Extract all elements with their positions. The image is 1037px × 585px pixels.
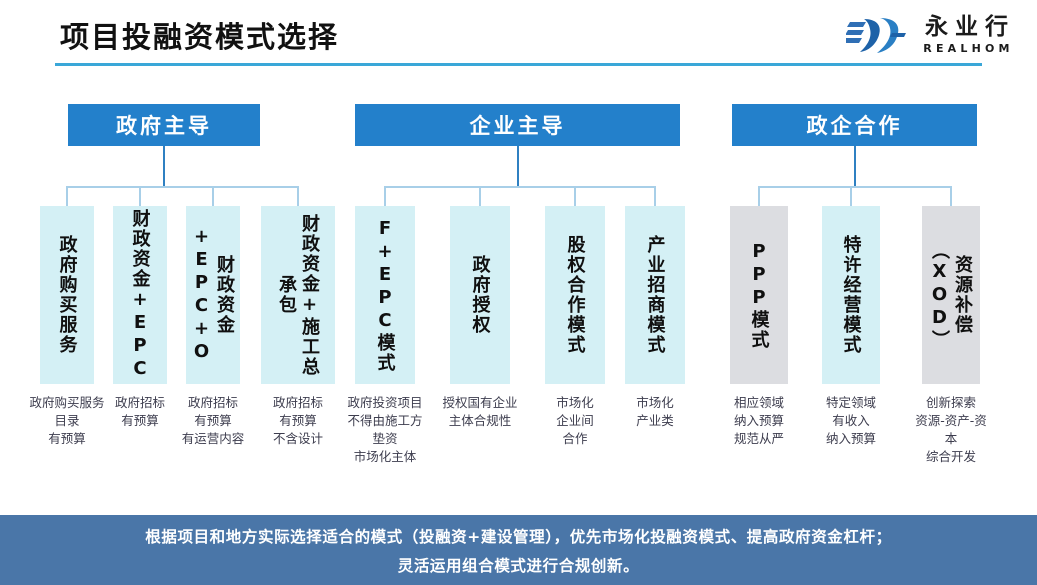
mode-card-label: PPP模式 — [747, 241, 770, 350]
caption-line: 资源-资产-资本 — [910, 412, 992, 448]
mode-card-label: 股权合作模式 — [563, 235, 586, 355]
connector-hbar — [759, 186, 951, 188]
mode-card-caption: 政府投资项目不得由施工方垫资市场化主体 — [344, 394, 426, 467]
caption-line: 特定领域 — [810, 394, 892, 412]
page-title: 项目投融资模式选择 — [60, 14, 339, 56]
mode-card-caption: 政府招标有预算有运营内容 — [172, 394, 254, 448]
mode-card-label: 政府购买服务 — [55, 235, 78, 355]
group-3: 政企合作PPP模式相应领域纳入预算规范从严特许经营模式特定领域有收入纳入预算资源… — [712, 76, 1032, 506]
caption-line: 政府招标 — [172, 394, 254, 412]
caption-line: 有运营内容 — [172, 430, 254, 448]
connector-drop — [297, 186, 299, 206]
title-underline-rule — [55, 63, 982, 66]
org-tree-diagram: 政府主导政府购买服务政府购买服务目录有预算财政资金+EPC政府招标有预算财政资金… — [0, 76, 1037, 506]
connector-drop — [139, 186, 141, 206]
caption-line: 企业间 — [534, 412, 616, 430]
caption-line: 相应领域 — [718, 394, 800, 412]
slide-header: 项目投融资模式选择 永业行 REALHOM — [0, 0, 1037, 76]
mode-card[interactable]: 财政资金+EPC+O — [186, 206, 240, 384]
mode-card-caption: 特定领域有收入纳入预算 — [810, 394, 892, 448]
caption-line: 授权国有企业 — [439, 394, 521, 412]
yh-monogram-icon — [846, 15, 908, 55]
connector-drop — [850, 186, 852, 206]
mode-card[interactable]: 政府购买服务 — [40, 206, 94, 384]
caption-line: 市场化 — [534, 394, 616, 412]
mode-card-label: 政府授权 — [468, 255, 491, 335]
mode-card-caption: 相应领域纳入预算规范从严 — [718, 394, 800, 448]
caption-line: 不含设计 — [257, 430, 339, 448]
mode-card-label: 财政资金+EPC — [128, 209, 151, 381]
connector-hbar — [67, 186, 298, 188]
brand-name-cn: 永业行 — [918, 16, 1015, 39]
connector-hbar — [385, 186, 655, 188]
mode-card[interactable]: 财政资金+EPC — [113, 206, 167, 384]
caption-line: 产业类 — [614, 412, 696, 430]
caption-line: 规范从严 — [718, 430, 800, 448]
connector-drop — [66, 186, 68, 206]
footer-line-1: 根据项目和地方实际选择适合的模式（投融资+建设管理），优先市场化投融资模式、提高… — [145, 525, 891, 547]
mode-card-label: 资源补偿（XOD） — [928, 206, 974, 384]
mode-card-label: 产业招商模式 — [643, 235, 666, 355]
caption-line: 政府招标 — [99, 394, 181, 412]
caption-line: 市场化主体 — [344, 448, 426, 466]
brand-name-en: REALHOM — [919, 43, 1013, 54]
brand-logo: 永业行 REALHOM — [846, 8, 1015, 62]
caption-line: 有预算 — [99, 412, 181, 430]
connector-drop — [654, 186, 656, 206]
connector-stem — [517, 146, 519, 186]
mode-card-caption: 授权国有企业主体合规性 — [439, 394, 521, 430]
connector-drop — [384, 186, 386, 206]
mode-card-caption: 市场化产业类 — [614, 394, 696, 430]
mode-card[interactable]: 财政资金+施工总承包 — [261, 206, 335, 384]
mode-card[interactable]: F+EPC模式 — [355, 206, 415, 384]
caption-line: 有收入 — [810, 412, 892, 430]
mode-card-caption: 政府招标有预算不含设计 — [257, 394, 339, 448]
caption-line: 合作 — [534, 430, 616, 448]
mode-card[interactable]: 产业招商模式 — [625, 206, 685, 384]
connector-stem — [163, 146, 165, 186]
connector-drop — [479, 186, 481, 206]
mode-card-caption: 政府购买服务目录有预算 — [26, 394, 108, 448]
mode-card[interactable]: 资源补偿（XOD） — [922, 206, 980, 384]
brand-wordmark: 永业行 REALHOM — [918, 16, 1015, 54]
caption-line: 纳入预算 — [718, 412, 800, 430]
caption-line: 有预算 — [172, 412, 254, 430]
mode-card-caption: 市场化企业间合作 — [534, 394, 616, 448]
mode-card-label: 财政资金+施工总承包 — [275, 206, 321, 384]
caption-line: 政府投资项目不得由施工方垫资 — [344, 394, 426, 448]
mode-card[interactable]: PPP模式 — [730, 206, 788, 384]
caption-line: 政府购买服务目录 — [26, 394, 108, 430]
mode-card-label: 财政资金+EPC+O — [190, 206, 236, 384]
caption-line: 有预算 — [257, 412, 339, 430]
caption-line: 综合开发 — [910, 448, 992, 466]
connector-drop — [950, 186, 952, 206]
mode-card-label: 特许经营模式 — [839, 235, 862, 355]
caption-line: 创新探索 — [910, 394, 992, 412]
caption-line: 政府招标 — [257, 394, 339, 412]
group-header-3[interactable]: 政企合作 — [732, 104, 977, 146]
group-header-2[interactable]: 企业主导 — [355, 104, 680, 146]
caption-line: 纳入预算 — [810, 430, 892, 448]
group-2: 企业主导F+EPC模式政府投资项目不得由施工方垫资市场化主体政府授权授权国有企业… — [340, 76, 690, 506]
connector-drop — [574, 186, 576, 206]
mode-card[interactable]: 特许经营模式 — [822, 206, 880, 384]
group-header-1[interactable]: 政府主导 — [68, 104, 260, 146]
mode-card-label: F+EPC模式 — [373, 218, 396, 373]
caption-line: 有预算 — [26, 430, 108, 448]
mode-card-caption: 政府招标有预算 — [99, 394, 181, 430]
connector-drop — [758, 186, 760, 206]
mode-card[interactable]: 股权合作模式 — [545, 206, 605, 384]
footer-line-2: 灵活运用组合模式进行合规创新。 — [398, 554, 640, 576]
connector-drop — [212, 186, 214, 206]
footer-banner: 根据项目和地方实际选择适合的模式（投融资+建设管理），优先市场化投融资模式、提高… — [0, 515, 1037, 585]
caption-line: 主体合规性 — [439, 412, 521, 430]
mode-card-caption: 创新探索资源-资产-资本综合开发 — [910, 394, 992, 467]
group-1: 政府主导政府购买服务政府购买服务目录有预算财政资金+EPC政府招标有预算财政资金… — [18, 76, 338, 506]
caption-line: 市场化 — [614, 394, 696, 412]
connector-stem — [854, 146, 856, 186]
mode-card[interactable]: 政府授权 — [450, 206, 510, 384]
